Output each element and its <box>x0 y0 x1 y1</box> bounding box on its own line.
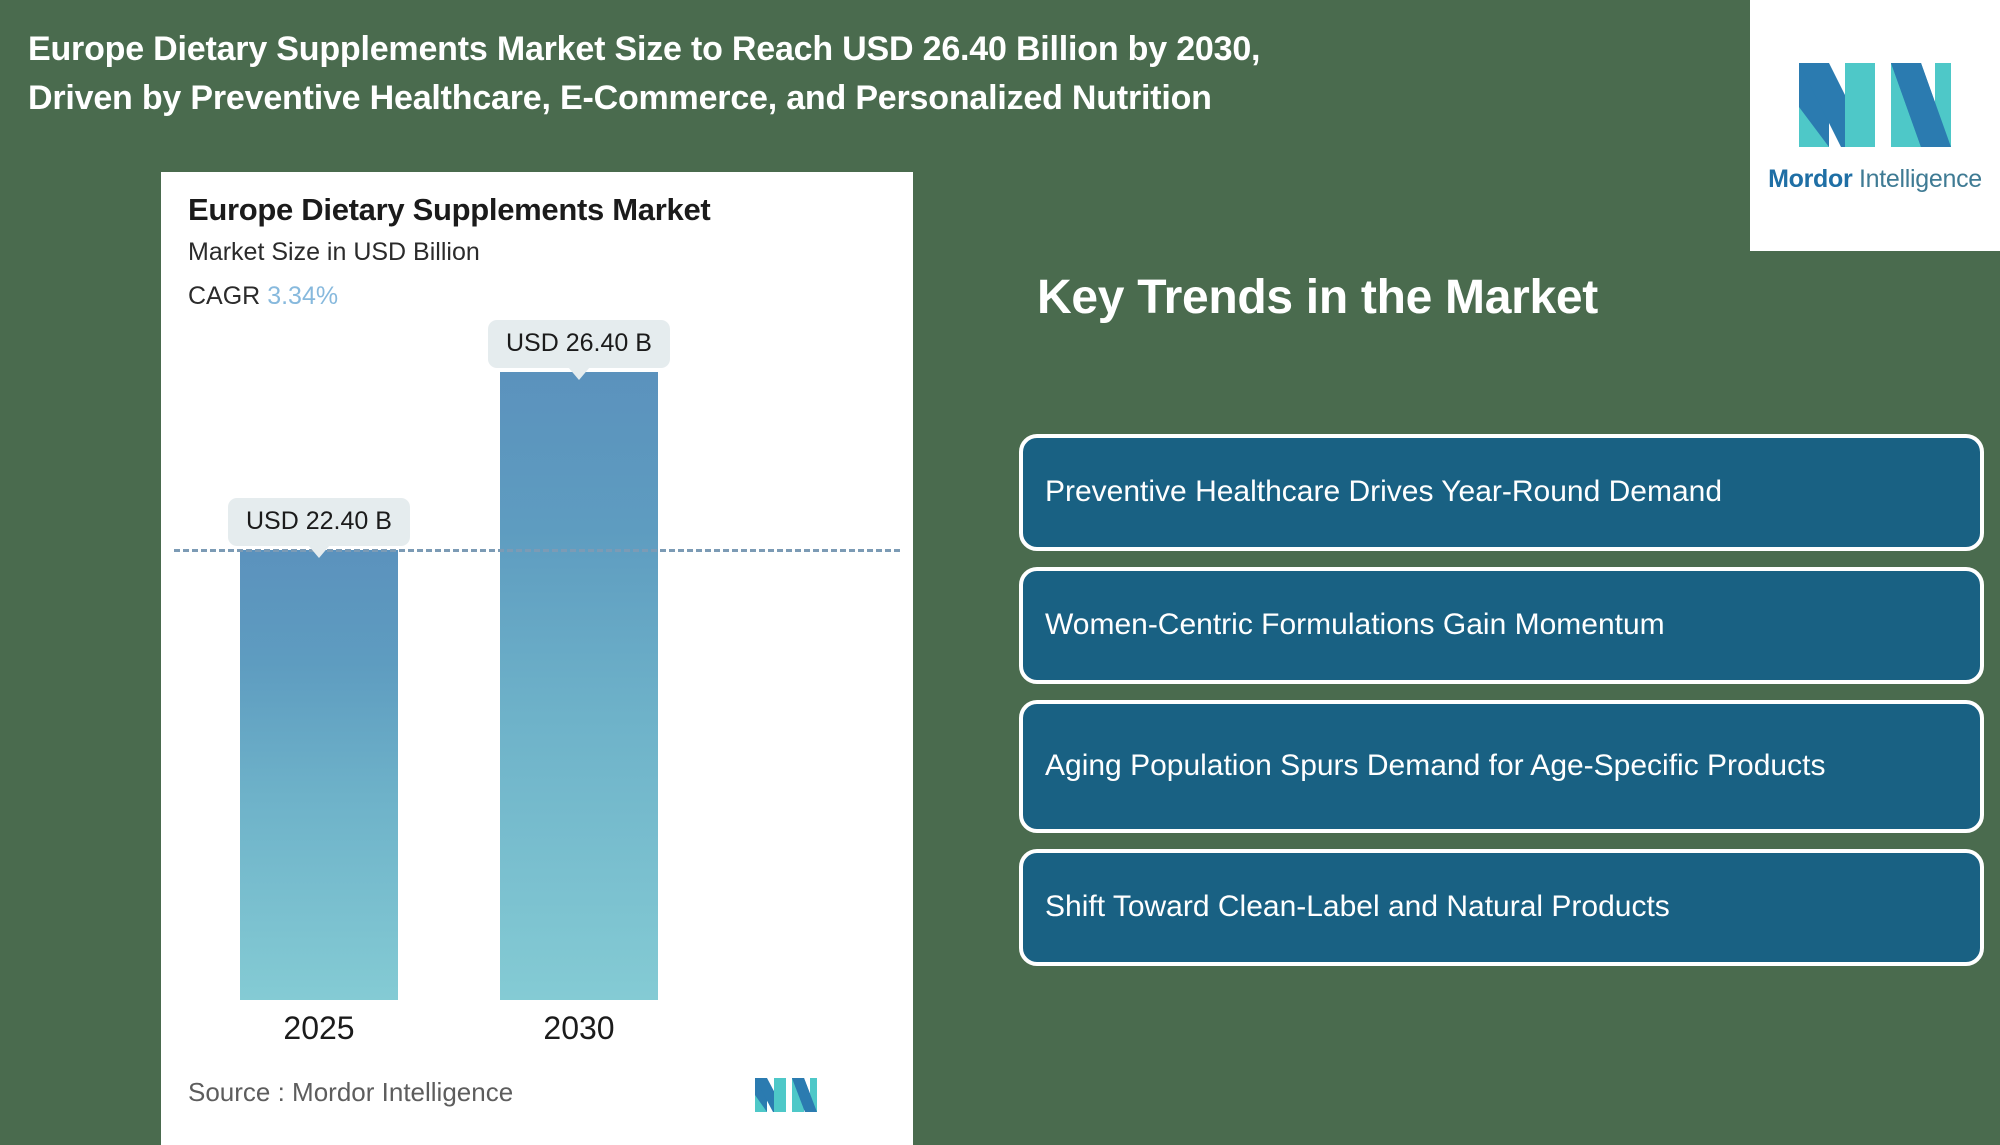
x-axis-tick-2030: 2030 <box>500 1010 658 1047</box>
bar-2025[interactable] <box>240 550 398 1000</box>
infographic-canvas: Europe Dietary Supplements Market Size t… <box>0 0 2000 1145</box>
trend-card-4-label: Shift Toward Clean-Label and Natural Pro… <box>1045 888 1670 926</box>
bar-value-label-2030: USD 26.40 B <box>488 320 670 368</box>
chart-card: Europe Dietary Supplements Market Market… <box>161 172 913 1145</box>
brand-wordmark-light: Intelligence <box>1859 165 1982 193</box>
brand-wordmark-bold: Mordor <box>1768 165 1852 193</box>
mordor-intelligence-logo-icon <box>1799 57 1951 153</box>
trend-card-3-label: Aging Population Spurs Demand for Age-Sp… <box>1045 747 1825 785</box>
reference-dashed-line <box>174 549 900 552</box>
page-title-line-1: Europe Dietary Supplements Market Size t… <box>28 25 1728 74</box>
trend-card-1-label: Preventive Healthcare Drives Year-Round … <box>1045 473 1722 511</box>
brand-wordmark: Mordor Intelligence <box>1768 165 1982 194</box>
trend-card-1[interactable]: Preventive Healthcare Drives Year-Round … <box>1019 434 1984 551</box>
bar-value-label-2025: USD 22.40 B <box>228 498 410 546</box>
bar-chart-plot: USD 22.40 B USD 26.40 B 2025 2030 <box>161 172 913 1145</box>
bar-2030[interactable] <box>500 372 658 1000</box>
mordor-intelligence-mark-icon <box>755 1075 817 1115</box>
trends-list: Preventive Healthcare Drives Year-Round … <box>1019 434 1984 982</box>
chart-source-text: Source : Mordor Intelligence <box>188 1077 513 1108</box>
page-title-line-2: Driven by Preventive Healthcare, E-Comme… <box>28 74 1728 123</box>
page-title: Europe Dietary Supplements Market Size t… <box>28 25 1728 124</box>
x-axis-tick-2025: 2025 <box>240 1010 398 1047</box>
trend-card-4[interactable]: Shift Toward Clean-Label and Natural Pro… <box>1019 849 1984 966</box>
trend-card-2-label: Women-Centric Formulations Gain Momentum <box>1045 606 1665 644</box>
trend-card-2[interactable]: Women-Centric Formulations Gain Momentum <box>1019 567 1984 684</box>
trend-card-3[interactable]: Aging Population Spurs Demand for Age-Sp… <box>1019 700 1984 833</box>
brand-logo-box: Mordor Intelligence <box>1750 0 2000 251</box>
trends-heading: Key Trends in the Market <box>1037 270 1598 325</box>
